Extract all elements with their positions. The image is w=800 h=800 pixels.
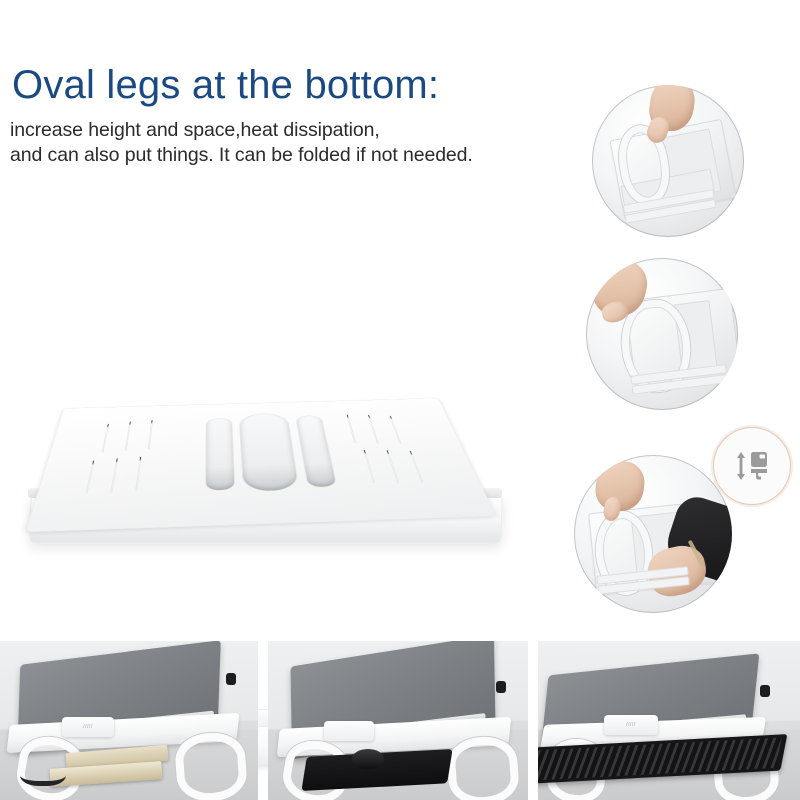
scene-lift-leg [586, 258, 738, 410]
scene-two-hands-fold [574, 455, 732, 613]
inset-circle-lift-leg [586, 258, 738, 410]
laptop-hinge-knob [760, 685, 770, 697]
stand-brand-label: ///// [62, 724, 114, 730]
vent-slit [85, 460, 94, 493]
vent-slit [368, 415, 379, 444]
vent-slit [386, 450, 399, 483]
stand-front-tab [324, 721, 374, 741]
stand-top-plate [25, 398, 496, 532]
cable [20, 759, 66, 786]
inset-circle-two-hands-fold [574, 455, 732, 613]
vent-slit [135, 457, 141, 491]
vent-slit [389, 416, 401, 444]
subtitle-line-1: increase height and space,heat dissipati… [10, 118, 473, 143]
gallery-photo-stand-with-keyboard: ///// [538, 641, 800, 800]
vent-slot-right [295, 415, 337, 488]
scene-unfold-leg [592, 85, 744, 237]
gallery-photo-stand-with-mousepad [268, 641, 528, 800]
vent-slit [102, 424, 110, 453]
height-adjust-icon [732, 446, 772, 486]
mouse [352, 749, 384, 769]
vent-slit [363, 450, 375, 483]
vent-slit [125, 421, 131, 450]
page-subtitle: increase height and space,heat dissipati… [10, 118, 473, 168]
vent-slit [346, 414, 356, 443]
vent-slot-center [239, 413, 300, 492]
hero-product-image [0, 255, 540, 630]
vent-slit [110, 458, 118, 492]
page-title: Oval legs at the bottom: [12, 62, 439, 108]
product-feature-page: Oval legs at the bottom: increase height… [0, 0, 800, 800]
vent-slit [409, 451, 423, 483]
height-adjust-badge [714, 428, 790, 504]
stand-brand-label: ///// [604, 722, 658, 728]
gallery-photo-stand-with-books: ///// [0, 641, 258, 800]
laptop-hinge-knob [226, 673, 236, 685]
laptop-hinge-knob [496, 681, 506, 693]
oval-leg-right [446, 735, 521, 800]
vent-slit [148, 420, 153, 449]
oval-leg-right [174, 731, 249, 800]
inset-circle-unfold-leg [592, 85, 744, 237]
subtitle-line-2: and can also put things. It can be folde… [10, 143, 473, 168]
vent-slot-left [205, 418, 235, 491]
